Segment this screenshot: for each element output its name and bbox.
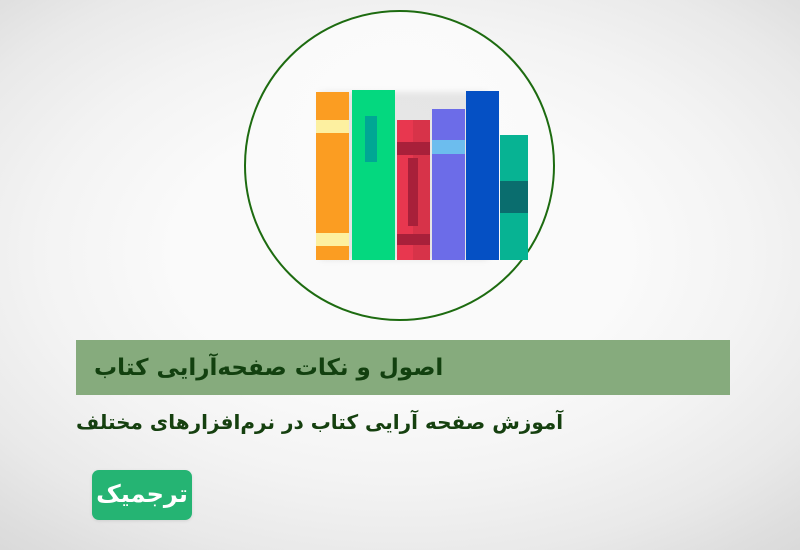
purple-book-icon — [432, 109, 465, 260]
teal-book-icon — [500, 135, 528, 260]
subtitle-row: آموزش صفحه آرایی کتاب در نرم‌افزارهای مخ… — [76, 402, 686, 442]
red-book-top-band — [397, 142, 430, 155]
green-book-spine-label — [365, 116, 377, 162]
brand-logo[interactable]: ترجمیک — [92, 470, 192, 520]
orange-book-icon — [316, 92, 349, 260]
red-book-spine-label — [408, 158, 418, 226]
red-book-icon — [397, 120, 430, 260]
books-illustration — [316, 80, 488, 260]
green-book-icon — [352, 90, 395, 260]
brand-logo-label: ترجمیک — [96, 482, 188, 508]
promo-card: اصول و نکات صفحه‌آرایی کتاب آموزش صفحه آ… — [0, 0, 800, 550]
purple-book-top-band — [432, 140, 465, 154]
title-banner: اصول و نکات صفحه‌آرایی کتاب — [76, 340, 730, 395]
blue-book-icon — [466, 91, 499, 260]
page-subtitle: آموزش صفحه آرایی کتاب در نرم‌افزارهای مخ… — [76, 410, 563, 434]
orange-book-top-band — [316, 120, 349, 133]
orange-book-bottom-band — [316, 233, 349, 246]
teal-book-middle-band — [500, 181, 528, 213]
red-book-bottom-band — [397, 234, 430, 245]
page-title: اصول و نکات صفحه‌آرایی کتاب — [94, 355, 443, 381]
